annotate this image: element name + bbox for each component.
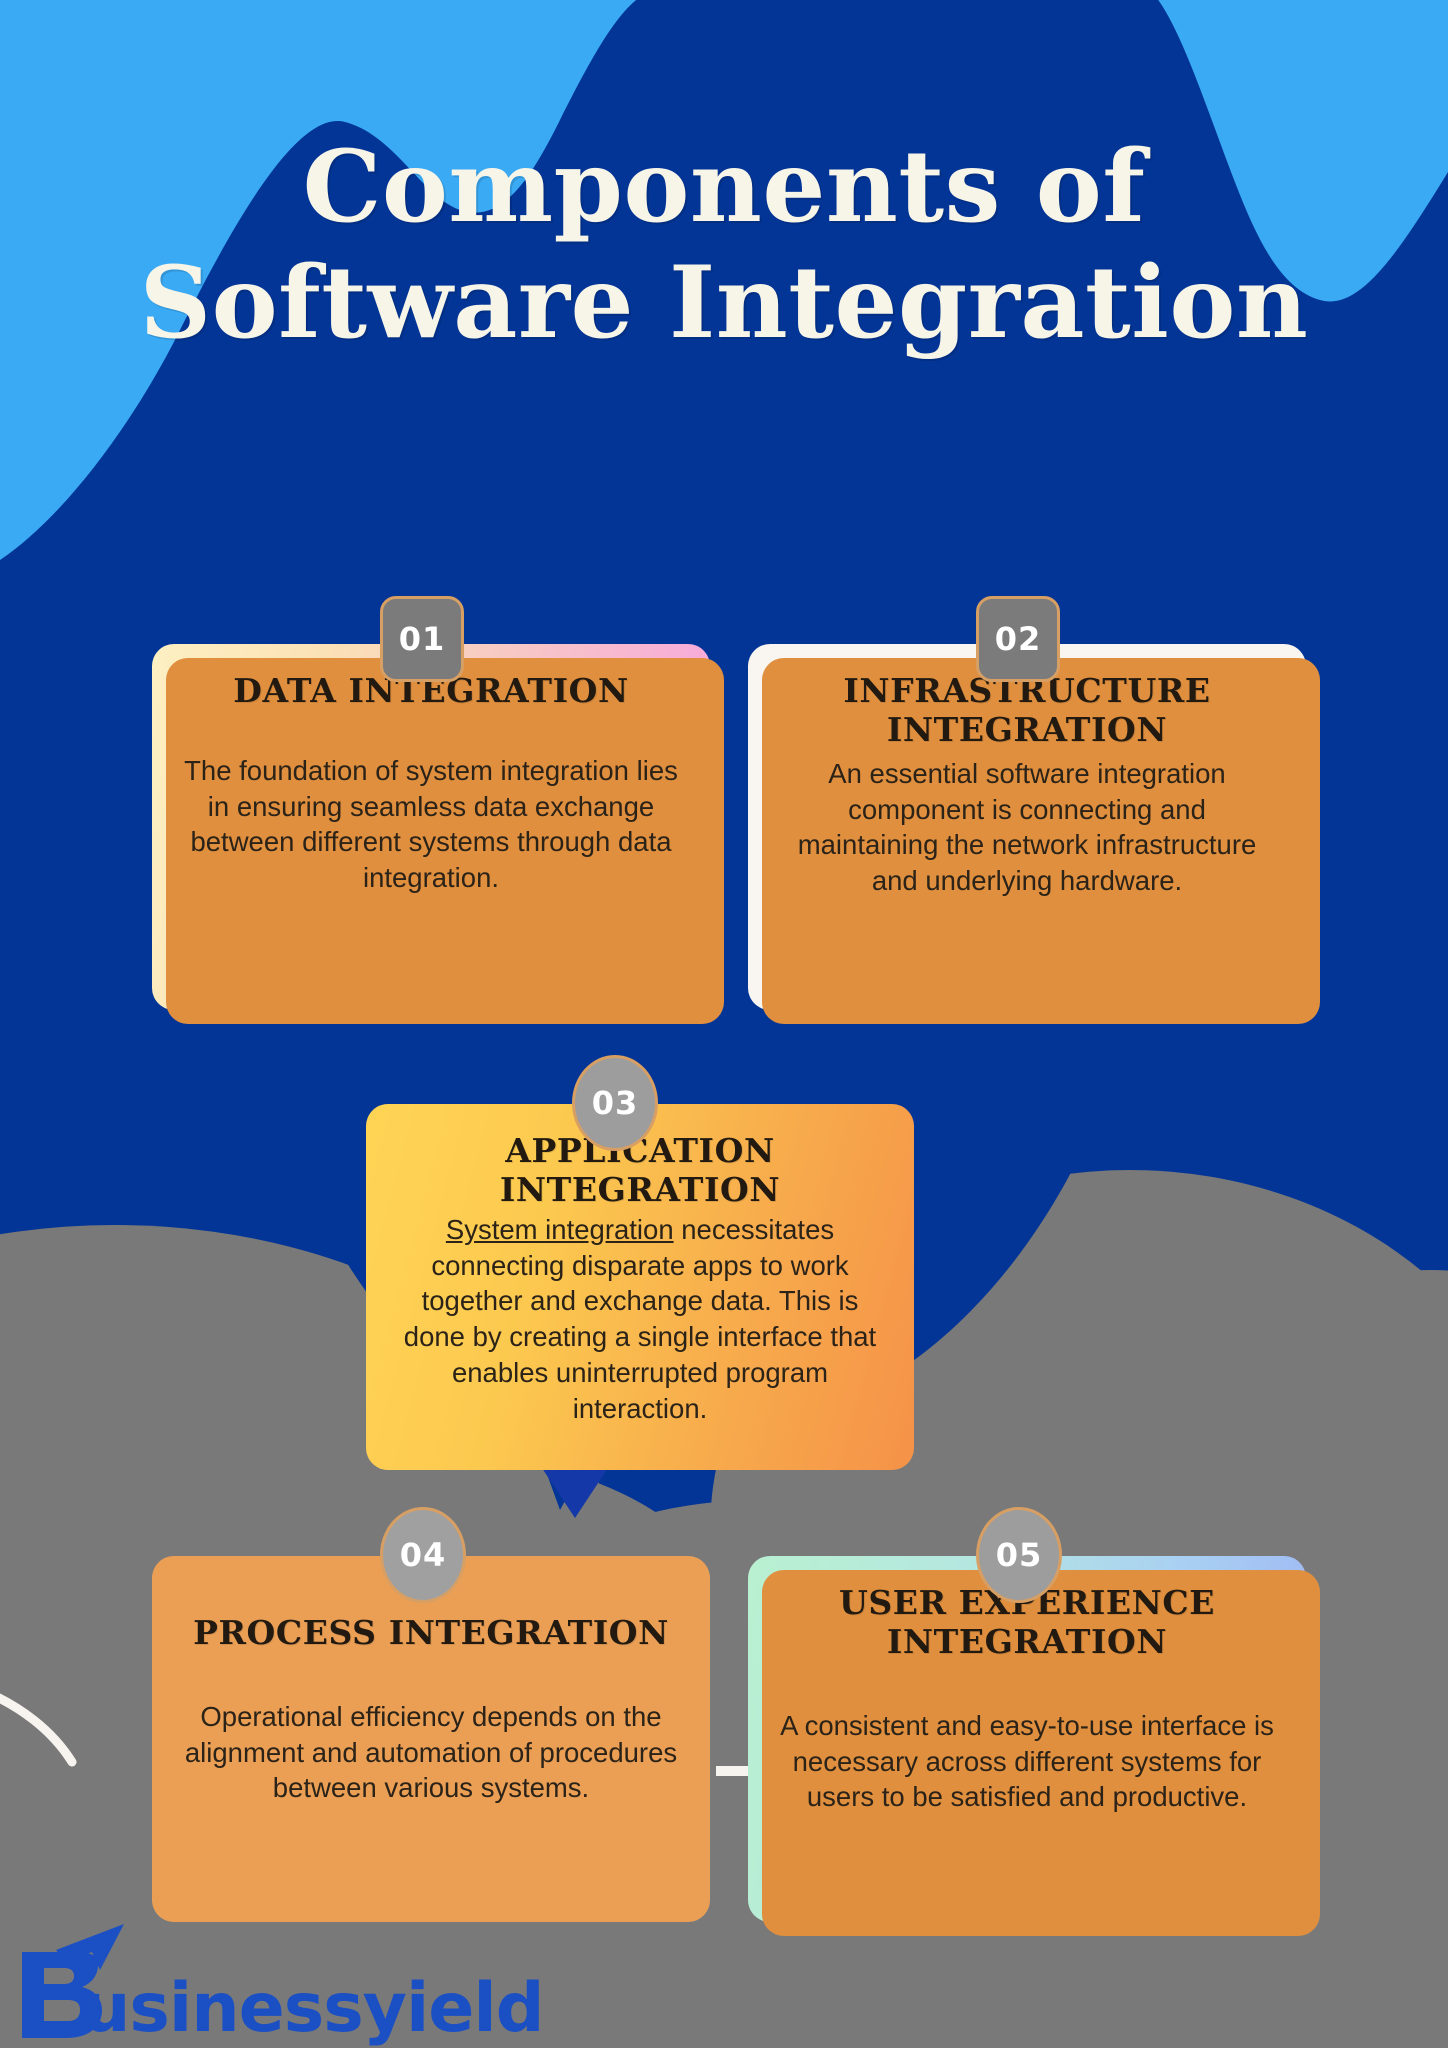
card-title: INFRASTRUCTURE INTEGRATION	[774, 672, 1280, 750]
card-infrastructure-integration[interactable]: INFRASTRUCTURE INTEGRATION An essential …	[748, 644, 1306, 1010]
card-body: Operational efficiency depends on the al…	[178, 1699, 684, 1806]
badge-number-01: 01	[380, 596, 464, 682]
card-process-integration[interactable]: PROCESS INTEGRATION Operational efficien…	[152, 1556, 710, 1922]
card-body: An essential software integration compon…	[774, 756, 1280, 899]
badge-number-05: 05	[976, 1507, 1062, 1603]
card-body: System integration necessitates connecti…	[392, 1212, 888, 1427]
badge-label: 01	[399, 620, 446, 658]
white-connector-line	[716, 1766, 750, 1776]
card-application-integration[interactable]: APPLICATION INTEGRATION System integrati…	[366, 1104, 914, 1470]
badge-label: 05	[996, 1536, 1043, 1574]
card-body: A consistent and easy-to-use interface i…	[774, 1708, 1280, 1815]
brand-logo[interactable]: usinessyield	[16, 1922, 543, 2042]
badge-number-03: 03	[572, 1055, 658, 1151]
badge-number-04: 04	[380, 1507, 466, 1603]
system-integration-link[interactable]: System integration	[446, 1214, 674, 1245]
badge-number-02: 02	[976, 596, 1060, 682]
card-title: APPLICATION INTEGRATION	[392, 1132, 888, 1210]
title-line-1: Components of	[0, 130, 1448, 246]
page-title: Components of Software Integration	[0, 130, 1448, 362]
badge-label: 03	[592, 1084, 639, 1122]
infographic-poster: Components of Software Integration DATA …	[0, 0, 1448, 2048]
card-body-rest: necessitates connecting disparate apps t…	[404, 1214, 876, 1424]
card-title: PROCESS INTEGRATION	[178, 1614, 684, 1653]
card-body: The foundation of system integration lie…	[178, 753, 684, 896]
title-line-2: Software Integration	[0, 246, 1448, 362]
badge-label: 04	[400, 1536, 447, 1574]
card-data-integration[interactable]: DATA INTEGRATION The foundation of syste…	[152, 644, 710, 1010]
card-user-experience-integration[interactable]: USER EXPERIENCE INTEGRATION A consistent…	[748, 1556, 1306, 1922]
brand-name: usinessyield	[82, 1977, 543, 2042]
badge-label: 02	[995, 620, 1042, 658]
